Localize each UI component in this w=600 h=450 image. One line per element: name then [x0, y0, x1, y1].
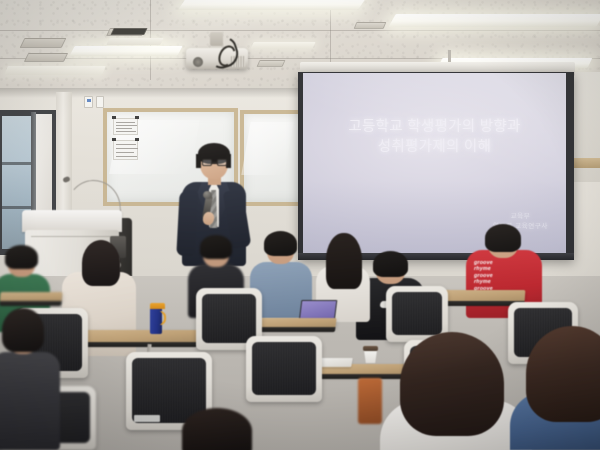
- switch-indicator-led: [87, 99, 91, 102]
- cup-lid: [363, 346, 378, 351]
- ceiling-vent: [24, 53, 68, 62]
- person-hair: [5, 245, 38, 269]
- notice-tape: [112, 138, 116, 141]
- person-hair: [264, 231, 297, 256]
- audience-person-foreground-denim: [516, 336, 600, 450]
- desk-edge: [0, 301, 62, 306]
- projector-lens: [193, 57, 203, 67]
- notice-tape: [112, 116, 116, 119]
- tablet-arm-desk: [0, 292, 62, 302]
- classroom-chair[interactable]: [246, 336, 322, 402]
- ceiling-light-panel: [106, 38, 163, 45]
- right-wall-rail: [574, 158, 600, 168]
- person-hair: [373, 251, 408, 277]
- ceiling-speaker: [110, 28, 147, 35]
- notice-tape: [135, 138, 139, 141]
- whiteboard-notice: [113, 140, 138, 160]
- ceiling-vent: [354, 22, 387, 29]
- tumbler-lid: [150, 303, 165, 309]
- eyeglasses-icon: [202, 159, 227, 166]
- person-hair: [182, 408, 252, 450]
- whiteboard-notice: [113, 118, 138, 135]
- blue-tumbler: [150, 303, 165, 334]
- classroom-lecture-photo: 고등학교 학생평가의 방향과 성취평가제의 이해 교육부 염동렬 교육연구사: [0, 0, 600, 450]
- ceiling-vent: [256, 60, 285, 67]
- ceiling-light-panel: [388, 14, 600, 27]
- tablet-arm-desk: [249, 318, 336, 328]
- slide-title-line-2: 성취평가제의 이해: [303, 137, 566, 157]
- ceiling-vent: [20, 38, 67, 48]
- person-torso: [0, 352, 60, 450]
- presenter-hair-side: [196, 154, 201, 168]
- audience-person-foreground-lower: [182, 408, 252, 450]
- chair-mesh: [252, 342, 316, 395]
- audience-person-foreground-center: [386, 338, 526, 450]
- person-hair: [326, 233, 362, 289]
- ceiling-seam: [0, 30, 600, 31]
- slide-credit-line-1: 교육부: [511, 213, 531, 220]
- podium-top-surface: [22, 210, 122, 232]
- ceiling-light-panel: [4, 66, 106, 75]
- window-rail: [2, 162, 34, 165]
- ceiling-light-panel: [69, 46, 182, 56]
- person-hair-bob: [400, 332, 504, 436]
- notice-tape: [135, 116, 139, 119]
- slide-title: 고등학교 학생평가의 방향과 성취평가제의 이해: [303, 117, 566, 157]
- ceiling-light-panel: [178, 0, 366, 10]
- chair-mesh: [392, 292, 442, 335]
- paper-coffee-cup: [364, 346, 377, 363]
- person-hair: [485, 224, 521, 252]
- light-switch[interactable]: [84, 96, 93, 108]
- paper-handout: [317, 358, 353, 367]
- light-switch[interactable]: [96, 96, 104, 108]
- person-hair: [2, 308, 44, 352]
- orange-bag: [358, 378, 382, 424]
- ceiling-projector: [186, 44, 248, 70]
- projection-screen-surface: 고등학교 학생평가의 방향과 성취평가제의 이해 교육부 염동렬 교육연구사: [303, 73, 566, 253]
- person-hair: [526, 326, 600, 422]
- slide-title-line-1: 고등학교 학생평가의 방향과: [348, 119, 520, 135]
- person-hair: [82, 240, 120, 286]
- chair-label: [134, 415, 160, 422]
- shirt-graphic-text: grooverhymegrooverhymegroove: [474, 260, 514, 292]
- cup-body: [364, 350, 377, 363]
- ceiling-light-panel: [250, 42, 315, 49]
- person-hair: [200, 235, 232, 259]
- audience-person-foreground-left: [0, 316, 60, 450]
